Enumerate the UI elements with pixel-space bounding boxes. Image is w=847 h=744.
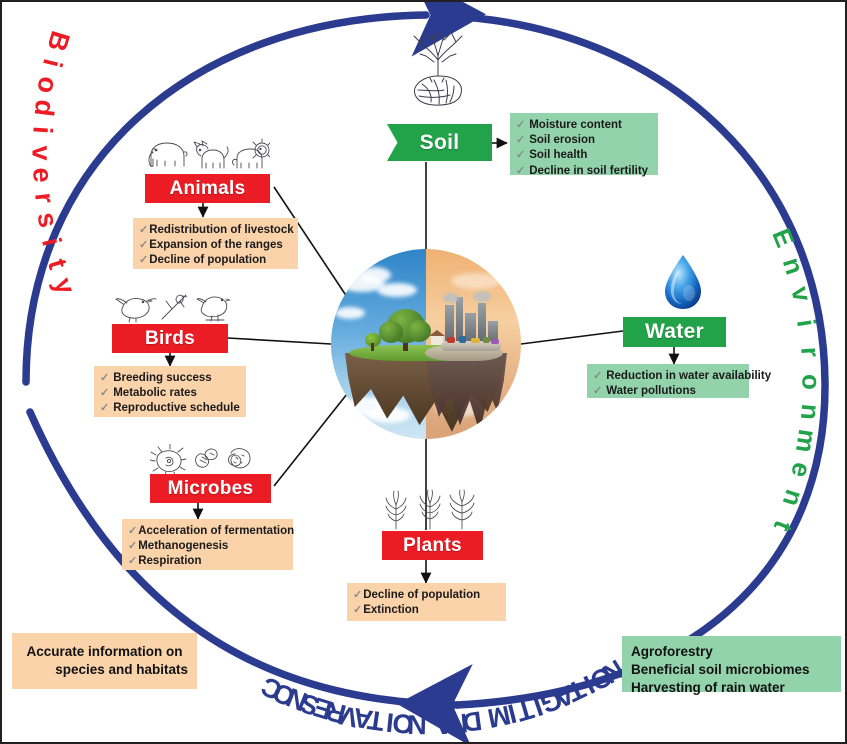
mitigation-action-item: Beneficial soil microbiomes (631, 661, 832, 679)
check-icon: ✓ (516, 148, 525, 163)
node-birds[interactable]: Birds (112, 324, 228, 353)
check-icon: ✓ (516, 133, 525, 148)
animals-sketch-icon (145, 138, 270, 176)
list-item: ✓Acceleration of fermentation (128, 524, 286, 539)
accurate-information-line1: Accurate information on (21, 643, 188, 661)
node-plants[interactable]: Plants (382, 531, 483, 560)
list-item: ✓Soil health (516, 148, 651, 163)
list-item: ✓Decline in soil fertility (516, 164, 651, 179)
check-icon: ✓ (516, 164, 525, 179)
diagram-canvas: Biodiversity Environment CONSERVATION AN… (0, 0, 847, 744)
water-drop-icon (661, 253, 705, 311)
check-icon: ✓ (593, 384, 602, 399)
list-item: ✓Decline of population (139, 253, 291, 268)
list-item: ✓Extinction (353, 603, 499, 618)
water-impact-list: ✓Reduction in water availability ✓Water … (587, 364, 749, 398)
node-animals[interactable]: Animals (145, 174, 270, 203)
node-microbes[interactable]: Microbes (150, 474, 271, 503)
mitigation-action-item: Agroforestry (631, 643, 832, 661)
node-birds-label: Birds (145, 328, 195, 350)
node-water[interactable]: Water (623, 317, 726, 347)
list-item: ✓Reproductive schedule (100, 401, 239, 416)
accurate-information-box: Accurate information on species and habi… (12, 633, 197, 689)
node-soil[interactable]: Soil (387, 124, 492, 161)
list-item: ✓Redistribution of livestock (139, 223, 291, 238)
birds-sketch-icon (114, 289, 234, 326)
split-earth-island-image (331, 249, 521, 439)
check-icon: ✓ (128, 524, 137, 539)
tree-sketch-icon (398, 30, 478, 112)
mitigation-action-item: Harvesting of rain water (631, 679, 832, 697)
check-icon: ✓ (139, 223, 148, 238)
node-animals-label: Animals (169, 178, 245, 200)
plants-impact-list: ✓Decline of population ✓Extinction (347, 583, 506, 621)
list-item: ✓Soil erosion (516, 133, 651, 148)
check-icon: ✓ (139, 253, 148, 268)
list-item: ✓Metabolic rates (100, 386, 239, 401)
list-item: ✓Decline of population (353, 588, 499, 603)
list-item: ✓Water pollutions (593, 384, 742, 399)
birds-impact-list: ✓Breeding success ✓Metabolic rates ✓Repr… (94, 366, 246, 417)
plants-sketch-icon (380, 489, 480, 531)
soil-impact-list: ✓Moisture content ✓Soil erosion ✓Soil he… (510, 113, 658, 175)
accurate-information-line2: species and habitats (21, 661, 188, 679)
check-icon: ✓ (593, 369, 602, 384)
check-icon: ✓ (100, 371, 109, 386)
list-item: ✓Methanogenesis (128, 539, 286, 554)
list-item: ✓Breeding success (100, 371, 239, 386)
check-icon: ✓ (128, 539, 137, 554)
animals-impact-list: ✓Redistribution of livestock ✓Expansion … (133, 218, 298, 269)
check-icon: ✓ (353, 588, 362, 603)
microbes-impact-list: ✓Acceleration of fermentation ✓Methanoge… (122, 519, 293, 570)
node-soil-label: Soil (420, 131, 460, 155)
list-item: ✓Moisture content (516, 118, 651, 133)
list-item: ✓Reduction in water availability (593, 369, 742, 384)
check-icon: ✓ (353, 603, 362, 618)
check-icon: ✓ (100, 386, 109, 401)
node-water-label: Water (645, 320, 704, 344)
check-icon: ✓ (139, 238, 148, 253)
check-icon: ✓ (128, 554, 137, 569)
node-microbes-label: Microbes (168, 478, 254, 500)
list-item: ✓Respiration (128, 554, 286, 569)
mitigation-actions-box: Agroforestry Beneficial soil microbiomes… (622, 636, 841, 692)
check-icon: ✓ (516, 118, 525, 133)
node-plants-label: Plants (403, 535, 462, 557)
list-item: ✓Expansion of the ranges (139, 238, 291, 253)
check-icon: ✓ (100, 401, 109, 416)
